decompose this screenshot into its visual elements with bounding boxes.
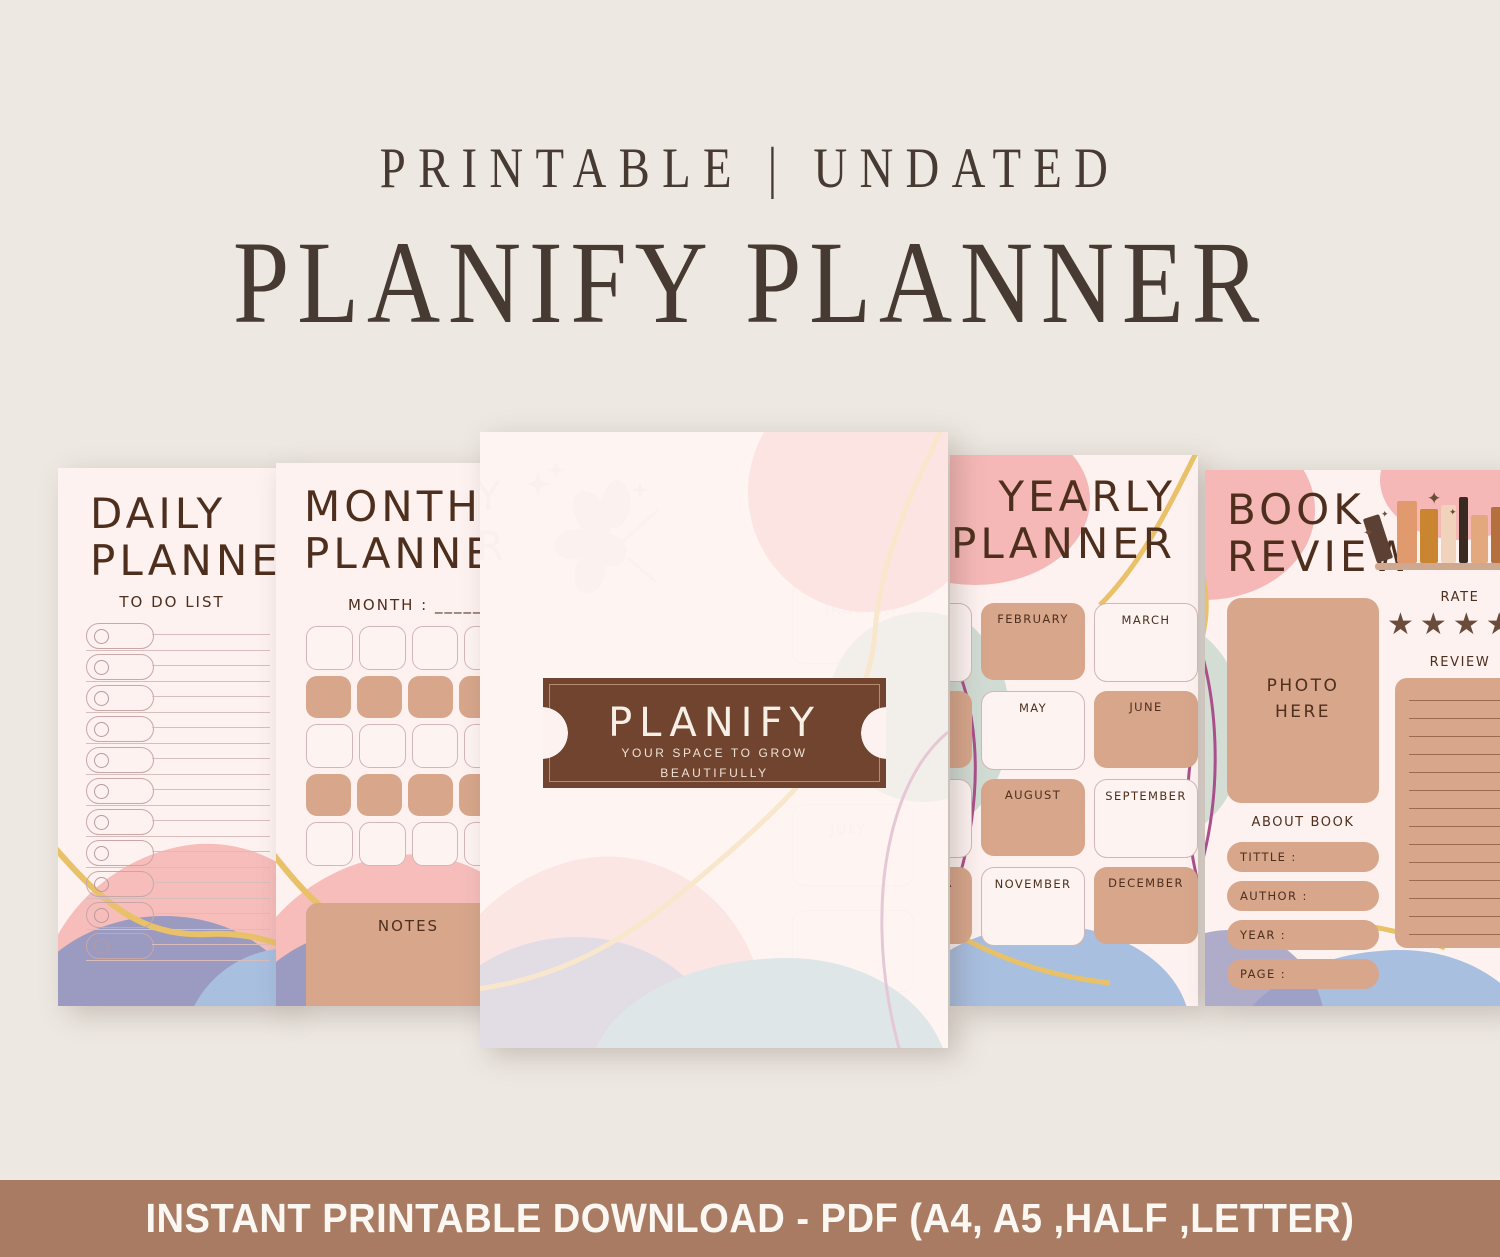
todo-checkbox-icon[interactable] (94, 877, 109, 892)
sparkle-icon: ✦ (1427, 490, 1441, 507)
todo-write-line (152, 758, 270, 759)
star-icon[interactable]: ★ (1486, 610, 1500, 640)
yearly-month-box[interactable]: SEPTEMBER (1094, 779, 1198, 858)
todo-write-line (152, 944, 270, 945)
todo-row[interactable] (86, 837, 270, 868)
yearly-month-label: MAY (982, 701, 1084, 715)
review-write-line (1409, 700, 1500, 701)
calendar-day-cell[interactable] (357, 676, 402, 718)
todo-checkbox-icon[interactable] (94, 939, 109, 954)
book-spine-icon (1420, 509, 1438, 563)
download-banner: INSTANT PRINTABLE DOWNLOAD - PDF (A4, A5… (0, 1180, 1500, 1257)
card-book-review[interactable]: BOOK REVIEW ✦ ✦ ✦ ✦ ✦ PHOTOHERE ABOUT BO… (1205, 470, 1500, 1006)
todo-row[interactable] (86, 775, 270, 806)
yearly-month-label: JUNE (1094, 700, 1198, 714)
header-subtitle: PRINTABLE | UNDATED (135, 140, 1365, 197)
brand-tagline-line1: YOUR SPACE TO GROW (543, 746, 886, 760)
book-spine-icon (1397, 501, 1417, 563)
cover-brand-plaque: PLANIFY YOUR SPACE TO GROW BEAUTIFULLY (543, 678, 886, 788)
todo-write-line (152, 882, 270, 883)
yearly-month-label: DECEMBER (1094, 876, 1198, 890)
yearly-month-box[interactable]: OCTOBER (950, 867, 972, 944)
todo-write-line (152, 696, 270, 697)
todo-checkbox-icon[interactable] (94, 629, 109, 644)
daily-todo-list[interactable] (86, 620, 270, 961)
poster-header: PRINTABLE | UNDATED PLANIFY PLANNER (0, 140, 1500, 345)
yearly-month-label: AUGUST (981, 788, 1085, 802)
book-field[interactable]: PAGE : (1227, 959, 1379, 989)
calendar-day-cell[interactable] (412, 626, 459, 670)
star-icon[interactable]: ★ (1420, 610, 1447, 640)
todo-checkbox-icon[interactable] (94, 815, 109, 830)
book-rate-label: RATE (1395, 590, 1500, 605)
todo-write-line (86, 960, 270, 961)
calendar-day-cell[interactable] (306, 774, 351, 816)
calendar-day-cell[interactable] (306, 822, 353, 866)
todo-row[interactable] (86, 744, 270, 775)
yearly-month-grid[interactable]: JANUARYFEBRUARYMARCHAPRILMAYJUNEJULYAUGU… (950, 603, 1198, 946)
review-write-line (1409, 844, 1500, 845)
monthly-month-field[interactable]: MONTH : ______ (276, 596, 492, 614)
calendar-day-cell[interactable] (412, 822, 459, 866)
todo-write-line (152, 820, 270, 821)
todo-row[interactable] (86, 713, 270, 744)
todo-row[interactable] (86, 806, 270, 837)
daily-title-line1: DAILY (90, 490, 282, 537)
yearly-month-label: SEPTEMBER (1095, 789, 1197, 803)
book-field-label: AUTHOR : (1240, 889, 1308, 903)
photo-line2: HERE (1227, 700, 1379, 726)
review-write-line (1409, 754, 1500, 755)
card-yearly-planner[interactable]: YEARLY PLANNER JANUARYFEBRUARYMARCHAPRIL… (950, 455, 1198, 1006)
todo-write-line (152, 634, 270, 635)
todo-row[interactable] (86, 868, 270, 899)
yearly-title-line1: YEARLY (950, 473, 1176, 520)
book-rating-stars[interactable]: ★★★★★ (1387, 610, 1500, 640)
star-icon[interactable]: ★ (1453, 610, 1480, 640)
book-field-label: PAGE : (1240, 967, 1286, 981)
todo-checkbox-icon[interactable] (94, 846, 109, 861)
book-photo-placeholder[interactable]: PHOTOHERE (1227, 598, 1379, 803)
yearly-month-box[interactable]: JUNE (1094, 691, 1198, 768)
review-write-line (1409, 826, 1500, 827)
yearly-month-box[interactable]: MARCH (1094, 603, 1198, 682)
yearly-month-label: JULY (950, 789, 971, 803)
book-field[interactable]: TITTLE : (1227, 842, 1379, 872)
calendar-day-cell[interactable] (359, 822, 406, 866)
brand-tagline-line2: BEAUTIFULLY (543, 766, 886, 780)
review-write-line (1409, 880, 1500, 881)
card-cover-planify[interactable]: Y R JANUARY JULY (480, 432, 948, 1048)
todo-checkbox-icon[interactable] (94, 722, 109, 737)
sparkle-icon: ✦ (1363, 526, 1374, 539)
book-spine-icon (1491, 507, 1500, 563)
calendar-day-cell[interactable] (359, 724, 406, 768)
todo-row[interactable] (86, 651, 270, 682)
review-write-line (1409, 934, 1500, 935)
todo-checkbox-icon[interactable] (94, 691, 109, 706)
photo-placeholder-label: PHOTOHERE (1227, 674, 1379, 725)
book-field[interactable]: AUTHOR : (1227, 881, 1379, 911)
book-field-label: TITTLE : (1240, 850, 1297, 864)
todo-row[interactable] (86, 620, 270, 651)
todo-row[interactable] (86, 682, 270, 713)
todo-write-line (152, 913, 270, 914)
daily-todo-label: TO DO LIST (58, 593, 286, 611)
yearly-month-box[interactable]: AUGUST (981, 779, 1085, 856)
book-field-label: YEAR : (1240, 928, 1286, 942)
shelf-plank-icon (1375, 563, 1500, 570)
daily-title-line2: PLANNE (90, 537, 282, 584)
review-write-line (1409, 808, 1500, 809)
download-banner-text: INSTANT PRINTABLE DOWNLOAD - PDF (A4, A5… (146, 1195, 1355, 1242)
todo-checkbox-icon[interactable] (94, 784, 109, 799)
calendar-day-cell[interactable] (306, 724, 353, 768)
todo-write-line (152, 789, 270, 790)
yearly-month-label: NOVEMBER (982, 877, 1084, 891)
yearly-month-label: JANUARY (950, 613, 971, 627)
yearly-month-box[interactable]: APRIL (950, 691, 972, 768)
sparkle-icon: ✦ (1449, 508, 1457, 517)
review-write-line (1409, 862, 1500, 863)
todo-write-line (152, 727, 270, 728)
calendar-day-cell[interactable] (408, 774, 453, 816)
calendar-day-cell[interactable] (306, 676, 351, 718)
card-monthly-planner[interactable]: MONTHLY PLANNER MONTH : ______ NOTES (276, 463, 512, 1006)
review-write-line (1409, 718, 1500, 719)
yearly-month-label: FEBRUARY (981, 612, 1085, 626)
calendar-day-cell[interactable] (408, 676, 453, 718)
review-write-line (1409, 772, 1500, 773)
book-spine-icon (1471, 515, 1488, 563)
card-daily-planner[interactable]: DAILY PLANNE TO DO LIST (58, 468, 286, 1006)
todo-write-line (152, 665, 270, 666)
yearly-month-box[interactable]: DECEMBER (1094, 867, 1198, 944)
bookshelf-icon: ✦ ✦ ✦ ✦ ✦ (1375, 492, 1500, 570)
yearly-month-box[interactable]: MAY (981, 691, 1085, 770)
star-icon[interactable]: ★ (1387, 610, 1414, 640)
todo-checkbox-icon[interactable] (94, 908, 109, 923)
todo-checkbox-icon[interactable] (94, 753, 109, 768)
daily-title: DAILY PLANNE (90, 490, 282, 584)
yearly-title: YEARLY PLANNER (950, 473, 1176, 567)
yearly-month-label: OCTOBER (950, 876, 972, 890)
book-about-fields[interactable]: TITTLE :AUTHOR :YEAR :PAGE : (1227, 842, 1379, 998)
calendar-day-cell[interactable] (306, 626, 353, 670)
calendar-day-cell[interactable] (357, 774, 402, 816)
book-field[interactable]: YEAR : (1227, 920, 1379, 950)
todo-checkbox-icon[interactable] (94, 660, 109, 675)
todo-row[interactable] (86, 899, 270, 930)
page-title: PLANIFY PLANNER (105, 221, 1395, 345)
review-write-line (1409, 916, 1500, 917)
book-spine-icon (1459, 497, 1468, 563)
yearly-month-label: APRIL (950, 700, 972, 714)
todo-row[interactable] (86, 930, 270, 961)
yearly-month-box[interactable]: FEBRUARY (981, 603, 1085, 680)
yearly-month-label: MARCH (1095, 613, 1197, 627)
yearly-month-box[interactable]: JULY (950, 779, 972, 858)
yearly-month-box[interactable]: NOVEMBER (981, 867, 1085, 946)
review-write-line (1409, 736, 1500, 737)
calendar-day-cell[interactable] (412, 724, 459, 768)
yearly-month-box[interactable]: JANUARY (950, 603, 972, 682)
brand-name: PLANIFY (543, 700, 886, 746)
sparkle-icon: ✦ (1381, 510, 1389, 519)
book-review-lines-box[interactable] (1395, 678, 1500, 948)
photo-line1: PHOTO (1227, 674, 1379, 700)
book-about-label: ABOUT BOOK (1227, 815, 1379, 830)
book-review-label: REVIEW (1395, 655, 1500, 670)
poster-canvas: PRINTABLE | UNDATED PLANIFY PLANNER DAIL… (0, 0, 1500, 1257)
review-write-line (1409, 790, 1500, 791)
calendar-day-cell[interactable] (359, 626, 406, 670)
yearly-title-line2: PLANNER (950, 520, 1176, 567)
todo-write-line (152, 851, 270, 852)
review-write-line (1409, 898, 1500, 899)
